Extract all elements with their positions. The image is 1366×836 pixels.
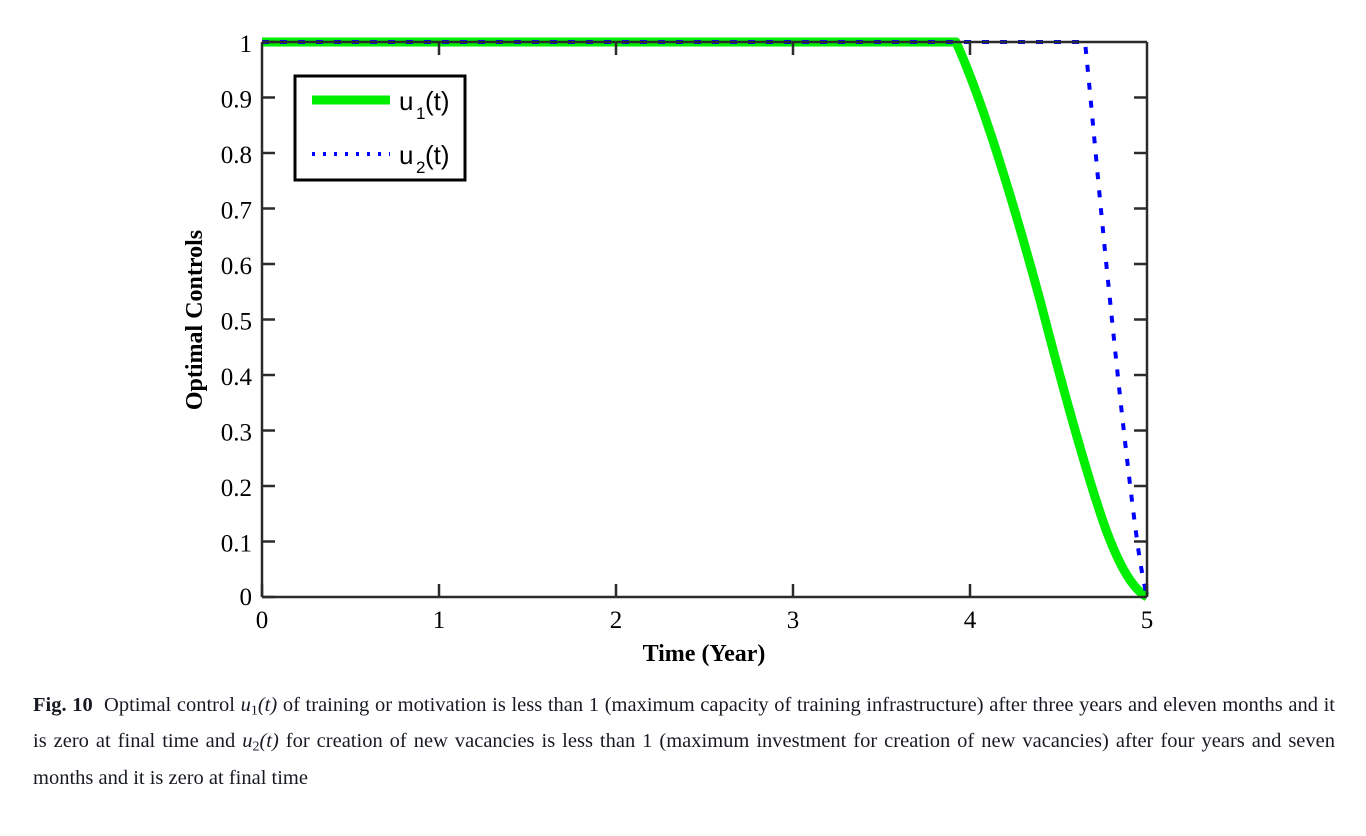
- x-tick-label: 3: [787, 607, 800, 634]
- legend-label-u2: u: [399, 140, 413, 170]
- x-tick-label: 5: [1141, 607, 1154, 634]
- x-tick-label: 2: [610, 607, 623, 634]
- x-tick-label: 1: [433, 607, 446, 634]
- y-tick-label: 1: [240, 31, 253, 58]
- x-tick-label: 4: [964, 607, 977, 634]
- x-tick-label: 0: [256, 607, 269, 634]
- legend-label-u1-suffix: (t): [425, 86, 450, 116]
- y-tick-label: 0.4: [221, 364, 253, 391]
- figure-caption: Fig. 10 Optimal control u1(t) of trainin…: [33, 690, 1335, 794]
- y-tick-label: 0.9: [221, 87, 252, 114]
- y-tick-label: 0.3: [221, 420, 252, 447]
- figure-caption-u1-tail: (t): [258, 694, 277, 716]
- y-tick-label: 0.5: [221, 309, 252, 336]
- legend-label-u1: u: [399, 86, 413, 116]
- x-axis-tick-labels: 0 1 2 3 4 5: [256, 607, 1154, 634]
- figure-caption-u1-subscript: 1: [251, 703, 258, 718]
- figure-caption-part-1: Optimal control: [104, 694, 241, 716]
- figure-panel: 1 0.9 0.8 0.7 0.6 0.5 0.4 0.3 0.2 0.1 0 …: [0, 0, 1366, 672]
- y-tick-label: 0.1: [221, 531, 252, 558]
- y-axis-title: Optimal Controls: [182, 230, 208, 410]
- y-tick-label: 0.2: [221, 475, 252, 502]
- figure-caption-label: Fig. 10: [33, 694, 93, 716]
- legend-label-u2-suffix: (t): [425, 140, 450, 170]
- y-tick-label: 0.6: [221, 253, 252, 280]
- x-axis-title: Time (Year): [643, 641, 766, 667]
- optimal-controls-chart: 1 0.9 0.8 0.7 0.6 0.5 0.4 0.3 0.2 0.1 0 …: [0, 0, 1366, 672]
- y-tick-label: 0.8: [221, 142, 252, 169]
- figure-caption-u1-symbol: u: [241, 694, 251, 716]
- chart-legend[interactable]: u 1 (t) u 2 (t): [295, 76, 465, 180]
- figure-caption-u2-symbol: u: [242, 730, 252, 752]
- y-tick-label: 0.7: [221, 198, 252, 225]
- y-axis-tick-labels: 1 0.9 0.8 0.7 0.6 0.5 0.4 0.3 0.2 0.1 0: [221, 31, 253, 611]
- figure-caption-u2-tail: (t): [259, 730, 278, 752]
- y-tick-label: 0: [240, 584, 253, 611]
